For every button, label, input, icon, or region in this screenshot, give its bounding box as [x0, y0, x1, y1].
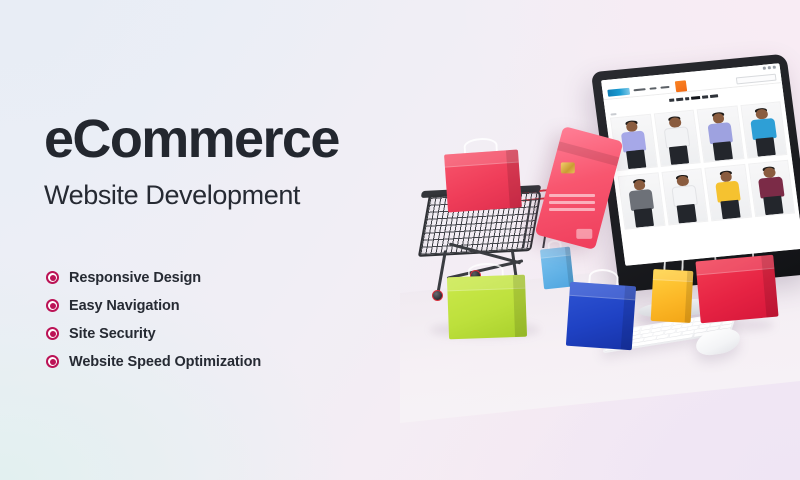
cart-icon	[773, 66, 776, 69]
wishlist-icon	[768, 66, 771, 69]
product-image	[661, 168, 708, 225]
list-item-label: Website Speed Optimization	[69, 354, 261, 370]
list-item: Easy Navigation	[46, 292, 261, 319]
ecommerce-illustration	[400, 0, 800, 480]
feature-list: Responsive Design Easy Navigation Site S…	[46, 264, 261, 375]
product-card	[704, 164, 751, 221]
product-card	[618, 172, 665, 229]
ecommerce-promo-banner: eCommerce Website Development Responsive…	[0, 0, 800, 480]
product-image	[748, 160, 795, 217]
shopping-bag-red	[695, 255, 778, 324]
nav-item	[633, 88, 645, 92]
list-item: Website Speed Optimization	[46, 348, 261, 375]
user-icon	[763, 67, 766, 70]
site-search-input	[736, 73, 777, 84]
nav-cta-button	[675, 80, 687, 92]
product-image	[618, 172, 665, 229]
monitor-screen	[601, 63, 800, 266]
product-image	[653, 110, 700, 167]
product-image	[740, 101, 787, 158]
product-card	[697, 105, 745, 164]
filter-chip	[610, 113, 616, 116]
list-item-label: Easy Navigation	[69, 298, 180, 314]
list-item: Responsive Design	[46, 264, 261, 291]
radio-filled-icon	[46, 271, 59, 284]
product-image	[697, 105, 744, 162]
shopping-bag-lime	[447, 275, 527, 340]
product-card	[661, 168, 708, 225]
radio-filled-icon	[46, 355, 59, 368]
shopping-bag-blue	[566, 282, 636, 350]
product-card	[653, 110, 701, 169]
nav-item	[649, 87, 656, 90]
card-number	[549, 194, 595, 211]
card-chip-icon	[561, 162, 575, 173]
product-card	[748, 160, 795, 217]
shopping-bag-pink	[444, 149, 522, 212]
radio-filled-icon	[46, 327, 59, 340]
list-item: Site Security	[46, 320, 261, 347]
product-card	[740, 101, 788, 160]
list-item-label: Site Security	[69, 326, 156, 342]
headline-block: eCommerce Website Development	[44, 112, 424, 211]
list-item-label: Responsive Design	[69, 270, 201, 286]
shopping-bag-sky	[540, 247, 574, 290]
credit-card	[535, 126, 624, 250]
page-subtitle: Website Development	[44, 180, 424, 211]
site-logo	[607, 87, 630, 96]
cart-wheel	[432, 290, 443, 301]
card-network-logo	[576, 229, 592, 239]
product-image	[704, 164, 751, 221]
shopping-bag-yellow	[651, 269, 694, 323]
ecommerce-website-mockup	[601, 63, 800, 266]
nav-item	[660, 86, 669, 89]
radio-filled-icon	[46, 299, 59, 312]
page-title: eCommerce	[44, 112, 424, 166]
